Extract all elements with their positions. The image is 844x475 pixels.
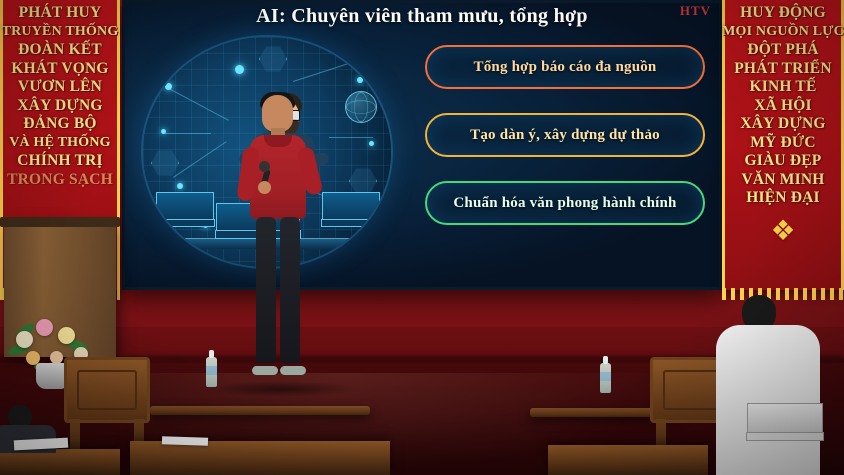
banner-right-line: HUY ĐỘNG	[740, 4, 826, 22]
banner-left-line: CHÍNH TRỊ	[17, 152, 103, 170]
banner-right-line: XÂY DỰNG	[740, 115, 825, 133]
slide-title: AI: Chuyên viên tham mưu, tổng hợp	[125, 5, 719, 28]
stage-step	[150, 406, 370, 415]
network-node	[357, 77, 363, 83]
foreground-table	[130, 441, 390, 475]
network-node	[177, 183, 183, 189]
banner-left-line: TRUYỀN THỐNG	[2, 23, 119, 41]
presenter-shoe	[280, 366, 306, 375]
network-node	[161, 129, 166, 134]
slide-bar-3-label: Chuẩn hóa văn phong hành chính	[453, 195, 676, 212]
presenter-legs	[254, 217, 302, 369]
presenter-leg	[256, 217, 276, 363]
paper-sheet	[162, 436, 208, 446]
banner-left-line: XÂY DỰNG	[17, 97, 102, 115]
banner-right-line: VĂN MINH	[742, 171, 825, 189]
banner-right-line: HIỆN ĐẠI	[746, 189, 820, 207]
illustrated-laptop	[155, 219, 215, 227]
water-bottle	[206, 357, 217, 387]
presenter-hand	[258, 181, 271, 194]
lotus-ornament-icon: ❖	[770, 218, 795, 246]
banner-left-line: ĐẢNG BỘ	[23, 115, 96, 133]
attendee-white-shirt	[716, 325, 820, 475]
slide-bar-2-label: Tạo dàn ý, xây dựng dự thảo	[470, 127, 660, 144]
slide-bar-1: Tổng hợp báo cáo đa nguồn	[425, 45, 705, 89]
presenter-with-microphone	[232, 95, 324, 387]
flower	[36, 319, 53, 336]
flower	[58, 327, 75, 344]
photo-scene: AI: Chuyên viên tham mưu, tổng hợp HTV	[0, 0, 844, 475]
foreground-table	[548, 445, 708, 475]
banner-right-line: ĐỘT PHÁ	[747, 41, 818, 59]
banner-right-line: KINH TẾ	[749, 78, 816, 96]
slide-bar-1-label: Tổng hợp báo cáo đa nguồn	[474, 59, 657, 76]
chair-back	[64, 357, 150, 423]
banner-left-line: ĐOÀN KẾT	[18, 41, 102, 59]
circuit-line	[329, 137, 373, 138]
banner-right-line: PHÁT TRIỂN	[734, 60, 831, 78]
network-node	[165, 83, 172, 90]
banner-right-line: GIÀU ĐẸP	[745, 152, 822, 170]
flower	[16, 331, 33, 348]
seated-attendee-in-white-shirt	[716, 295, 820, 475]
slide-bar-2: Tạo dàn ý, xây dựng dự thảo	[425, 113, 705, 157]
laptop-screen	[747, 403, 823, 433]
network-node	[369, 141, 374, 146]
globe-icon	[345, 91, 377, 123]
banner-left-line: PHÁT HUY	[19, 4, 102, 22]
microphone-head	[259, 161, 270, 172]
illustrated-laptop	[321, 219, 381, 227]
circuit-line	[163, 133, 211, 134]
presenter-shoe	[252, 366, 278, 375]
led-presentation-screen: AI: Chuyên viên tham mưu, tổng hợp HTV	[122, 0, 722, 290]
broadcast-logo: HTV	[680, 3, 711, 19]
slide-bar-3: Chuẩn hóa văn phong hành chính	[425, 181, 705, 225]
banner-right: HUY ĐỘNG MỌI NGUỒN LỰC ĐỘT PHÁ PHÁT TRIỂ…	[722, 0, 844, 290]
presenter-shadow	[206, 381, 356, 397]
banner-left-line: VƯƠN LÊN	[18, 78, 102, 96]
banner-left-line: VÀ HỆ THỐNG	[9, 134, 111, 152]
presenter-leg	[280, 217, 300, 363]
banner-right-line: XÃ HỘI	[754, 97, 812, 115]
banner-right-line: MỸ ĐỨC	[750, 134, 816, 152]
open-laptop	[746, 432, 824, 441]
lectern-top	[0, 217, 120, 227]
banner-left-line: KHÁT VỌNG	[11, 60, 108, 78]
network-node	[235, 65, 244, 74]
water-bottle	[600, 363, 611, 393]
presenter-red-polo	[250, 135, 306, 219]
presenter-head	[262, 95, 293, 132]
slide-bullet-bars: Tổng hợp báo cáo đa nguồn Tạo dàn ý, xây…	[425, 45, 705, 225]
banner-left-line: TRONG SẠCH	[7, 171, 113, 189]
banner-right-line: MỌI NGUỒN LỰC	[722, 23, 844, 41]
